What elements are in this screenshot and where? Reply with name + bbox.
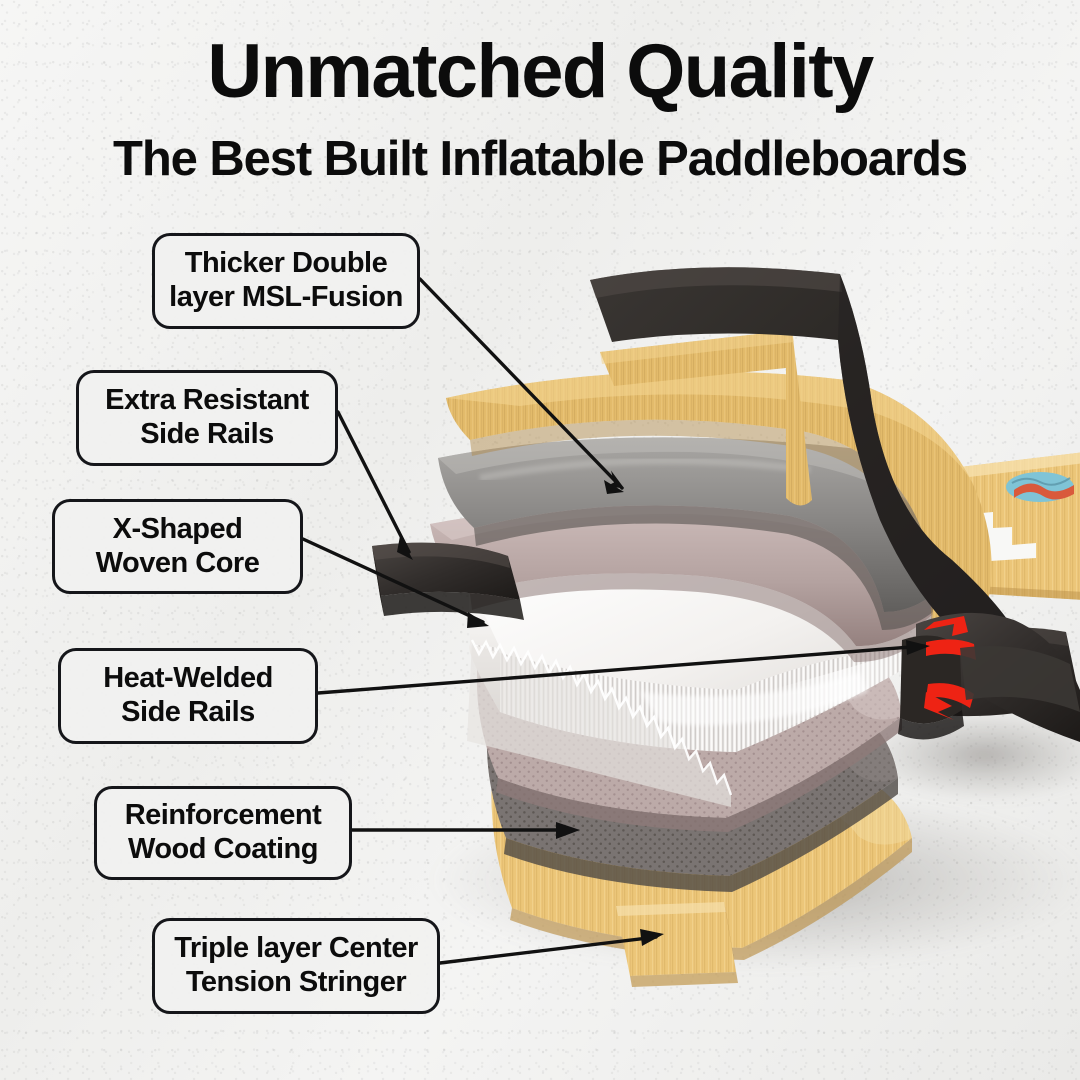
callout-extra-resistant-side-rails[interactable]: Extra ResistantSide Rails — [76, 370, 338, 466]
callout-line-2: Tension Stringer — [174, 966, 418, 1000]
callout-reinforcement-wood-coating[interactable]: ReinforcementWood Coating — [94, 786, 352, 880]
callout-heat-welded-side-rails[interactable]: Heat-WeldedSide Rails — [58, 648, 318, 744]
callout-thicker-double-layer-msl-fusion[interactable]: Thicker Doublelayer MSL-Fusion — [152, 233, 420, 329]
callout-line-1: Heat-Welded — [103, 662, 273, 696]
callout-line-2: Wood Coating — [125, 833, 322, 867]
callout-line-1: Triple layer Center — [174, 932, 418, 966]
callout-triple-layer-center-tension-stringer[interactable]: Triple layer CenterTension Stringer — [152, 918, 440, 1014]
callout-line-2: layer MSL-Fusion — [169, 281, 403, 315]
page-subtitle: The Best Built Inflatable Paddleboards — [0, 135, 1080, 184]
callout-line-2: Side Rails — [105, 418, 309, 452]
header: Unmatched Quality The Best Built Inflata… — [0, 0, 1080, 184]
callout-line-1: Reinforcement — [125, 799, 322, 833]
callout-x-shaped-woven-core[interactable]: X-ShapedWoven Core — [52, 499, 303, 594]
page-title: Unmatched Quality — [0, 34, 1080, 110]
callout-line-2: Woven Core — [96, 547, 260, 581]
callout-line-2: Side Rails — [103, 696, 273, 730]
callout-line-1: Extra Resistant — [105, 384, 309, 418]
callout-line-1: Thicker Double — [169, 247, 403, 281]
callout-line-1: X-Shaped — [96, 513, 260, 547]
